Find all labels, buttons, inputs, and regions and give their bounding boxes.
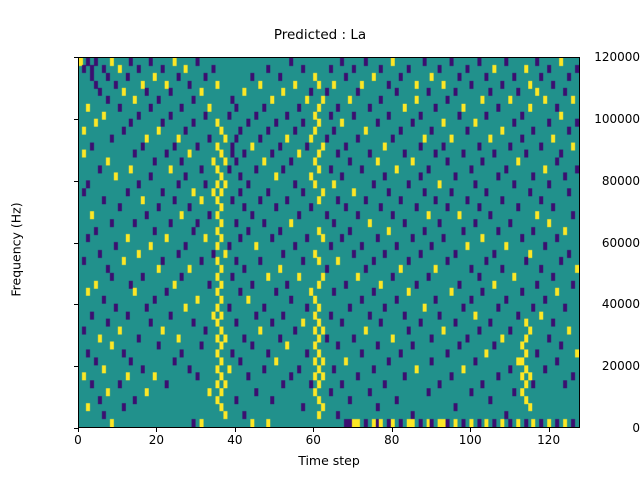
- x-tick-label: 60: [283, 433, 343, 447]
- x-tick-label: 80: [362, 433, 422, 447]
- x-tick-mark: [156, 428, 157, 432]
- y-tick-mark: [74, 304, 78, 305]
- x-tick-label: 0: [48, 433, 108, 447]
- x-tick-mark: [470, 428, 471, 432]
- y-tick-mark: [74, 243, 78, 244]
- matplotlib-figure: Predicted : La 0200004000060000800001000…: [0, 0, 640, 480]
- x-tick-mark: [392, 428, 393, 432]
- x-tick-mark: [235, 428, 236, 432]
- y-tick-mark: [74, 366, 78, 367]
- heatmap-axes: [78, 57, 580, 428]
- y-tick-label: 0: [574, 421, 640, 435]
- y-tick-label: 40000: [574, 297, 640, 311]
- x-tick-label: 100: [440, 433, 500, 447]
- x-tick-mark: [313, 428, 314, 432]
- heatmap-canvas: [79, 58, 579, 427]
- y-tick-label: 100000: [574, 112, 640, 126]
- y-axis-label: Frequency (Hz): [9, 150, 24, 350]
- y-tick-mark: [74, 57, 78, 58]
- y-tick-mark: [74, 181, 78, 182]
- y-tick-label: 60000: [574, 236, 640, 250]
- x-tick-mark: [549, 428, 550, 432]
- x-tick-label: 40: [205, 433, 265, 447]
- y-tick-label: 80000: [574, 174, 640, 188]
- y-tick-label: 20000: [574, 359, 640, 373]
- y-tick-mark: [74, 119, 78, 120]
- y-tick-label: 120000: [574, 50, 640, 64]
- x-tick-mark: [78, 428, 79, 432]
- x-tick-label: 20: [126, 433, 186, 447]
- x-axis-label: Time step: [78, 453, 580, 468]
- x-tick-label: 120: [519, 433, 579, 447]
- plot-title: Predicted : La: [0, 27, 640, 43]
